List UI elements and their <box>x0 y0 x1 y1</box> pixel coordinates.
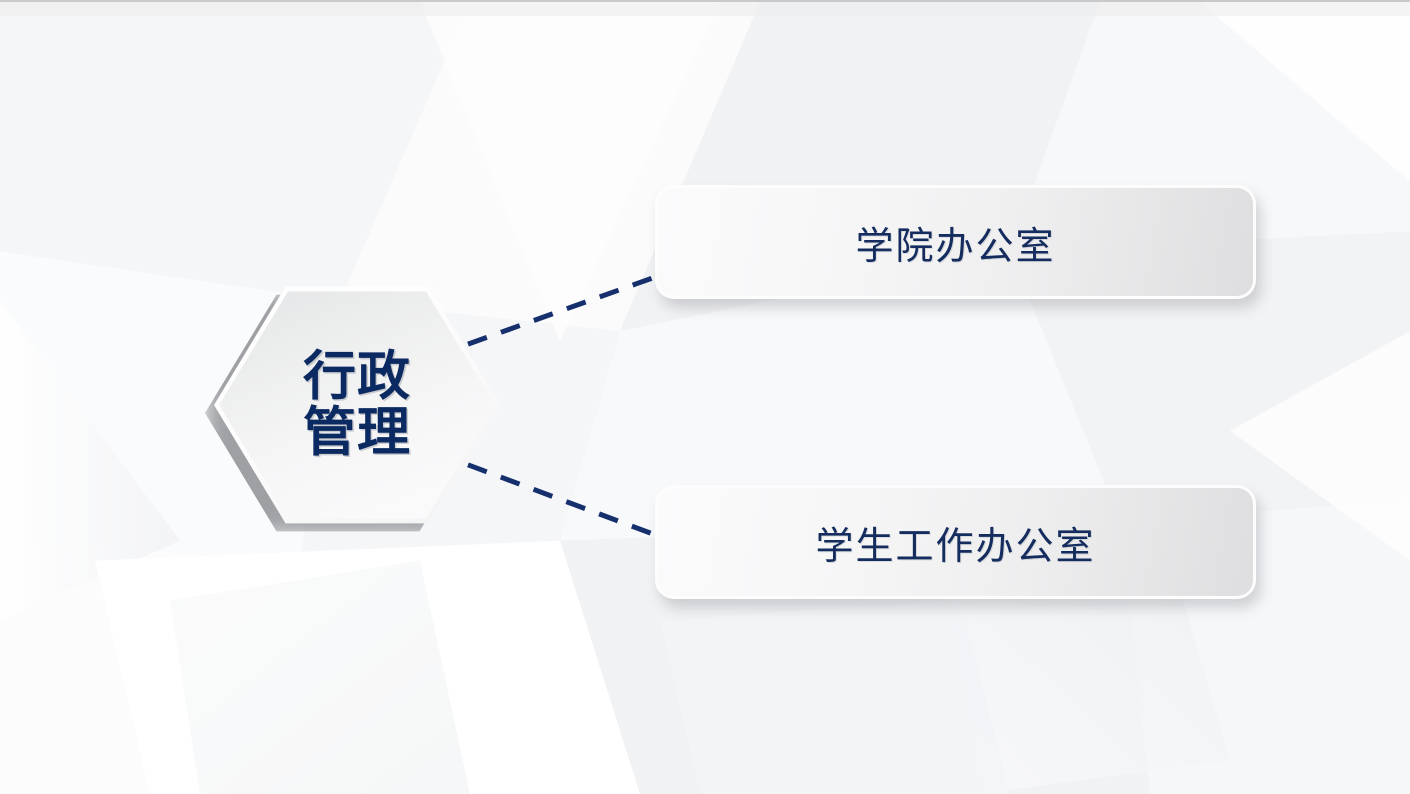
hub-label-line-1: 行政 <box>303 349 411 405</box>
connector-lines <box>0 2 1410 794</box>
branch-card-2[interactable]: 学生工作办公室 <box>655 485 1256 599</box>
hub-label-line-2: 管理 <box>303 405 411 461</box>
branch-card-1-label: 学院办公室 <box>855 215 1055 270</box>
branch-card-1-face: 学院办公室 <box>658 188 1253 296</box>
presentation-slide: 行政 管理 学院办公室 学生工作办公室 <box>0 0 1410 794</box>
hub-hexagon[interactable]: 行政 管理 <box>214 283 500 527</box>
branch-card-1[interactable]: 学院办公室 <box>655 185 1256 299</box>
branch-card-2-label: 学生工作办公室 <box>815 515 1095 570</box>
background-polygon-pattern <box>0 2 1410 794</box>
branch-card-2-face: 学生工作办公室 <box>658 488 1253 596</box>
